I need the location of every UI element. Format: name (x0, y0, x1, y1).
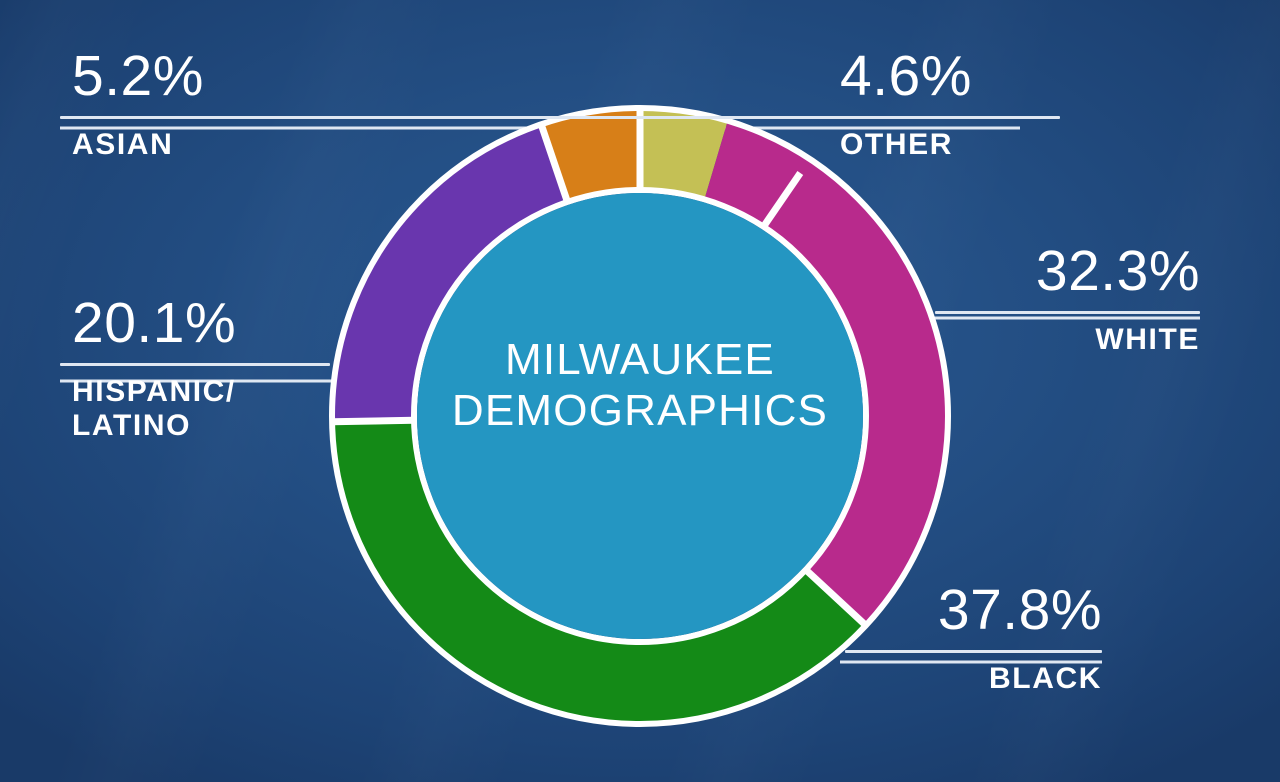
callout-hispanic-latino: 20.1% HISPANIC/ LATINO (60, 295, 330, 442)
callout-other-category: OTHER (840, 128, 1020, 162)
callout-hispanic-latino-percent: 20.1% (72, 295, 330, 352)
center-disc (417, 193, 863, 639)
callout-other-rule (840, 116, 1020, 119)
callout-hispanic-latino-category: HISPANIC/ LATINO (72, 375, 330, 442)
callout-black-category: BLACK (845, 662, 1102, 696)
callout-black-percent: 37.8% (845, 582, 1102, 639)
infographic-canvas: MILWAUKEE DEMOGRAPHICS 5.2% ASIAN 20.1% … (0, 0, 1280, 782)
callout-white-percent: 32.3% (935, 243, 1200, 300)
callout-black-rule (845, 650, 1102, 653)
callout-other: 4.6% OTHER (840, 48, 1020, 162)
callout-white-rule (935, 311, 1200, 314)
callout-hispanic-latino-rule (60, 363, 330, 366)
callout-white: 32.3% WHITE (935, 243, 1200, 357)
divider-3 (332, 420, 414, 422)
callout-other-percent: 4.6% (840, 48, 1020, 105)
callout-black: 37.8% BLACK (845, 582, 1102, 696)
callout-white-category: WHITE (935, 323, 1200, 357)
